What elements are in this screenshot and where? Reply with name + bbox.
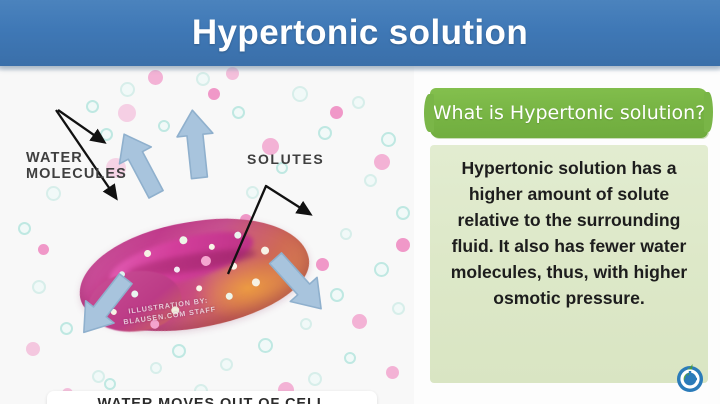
illustration-panel: ILLUSTRATION BY: BLAUSEN.COM STAFF <box>0 66 414 404</box>
solutes-label-pointer <box>214 170 326 285</box>
definition-panel: What is Hypertonic solution? Hypertonic … <box>414 66 720 404</box>
water-molecule <box>258 338 273 353</box>
definition-heading: What is Hypertonic solution? <box>433 103 705 124</box>
definition-heading-banner: What is Hypertonic solution? <box>430 88 708 138</box>
water-molecule <box>104 378 116 390</box>
water-molecule <box>120 82 135 97</box>
water-molecule <box>364 174 377 187</box>
caption-box: WATER MOVES OUT OF CELL IN A HYPERTONIC … <box>47 391 377 404</box>
water-molecule <box>344 352 356 364</box>
solute-particle <box>148 70 163 85</box>
solute-particle <box>208 88 220 100</box>
water-molecule <box>150 362 162 374</box>
water-molecule <box>381 132 396 147</box>
label-water-molecules: WATER MOLECULES <box>26 150 127 182</box>
label-water-line-1: WATER <box>26 150 127 166</box>
water-molecule <box>392 302 405 315</box>
water-molecule <box>92 370 105 383</box>
water-molecule <box>352 96 365 109</box>
solute-particle <box>352 314 367 329</box>
solute-particle <box>386 366 399 379</box>
screenshot-root: Hypertonic solution <box>0 0 720 404</box>
page-title: Hypertonic solution <box>192 13 528 53</box>
water-molecule <box>374 262 389 277</box>
water-molecule <box>32 280 46 294</box>
label-solutes: SOLUTES <box>247 151 324 167</box>
water-molecule <box>18 222 31 235</box>
water-molecule <box>292 86 308 102</box>
brand-logo <box>672 360 706 394</box>
title-banner: Hypertonic solution <box>0 0 720 66</box>
water-molecule <box>340 228 352 240</box>
water-molecule <box>232 106 245 119</box>
water-molecule <box>396 206 410 220</box>
cell-granule <box>196 285 203 292</box>
water-molecule <box>196 72 210 86</box>
water-molecule <box>308 372 322 386</box>
solute-particle <box>330 106 343 119</box>
solute-particle <box>26 342 40 356</box>
caption-line-1: WATER MOVES OUT OF CELL <box>97 395 326 404</box>
solute-particle <box>374 154 390 170</box>
water-molecule <box>220 358 233 371</box>
water-out-arrow-downleft <box>66 264 146 344</box>
label-water-line-2: MOLECULES <box>26 166 127 182</box>
water-molecule <box>172 344 186 358</box>
solute-particle <box>396 238 410 252</box>
definition-body-text: Hypertonic solution has a higher amount … <box>430 155 708 311</box>
solute-particle <box>38 244 49 255</box>
water-molecule <box>318 126 332 140</box>
definition-body-box: Hypertonic solution has a higher amount … <box>430 145 708 383</box>
